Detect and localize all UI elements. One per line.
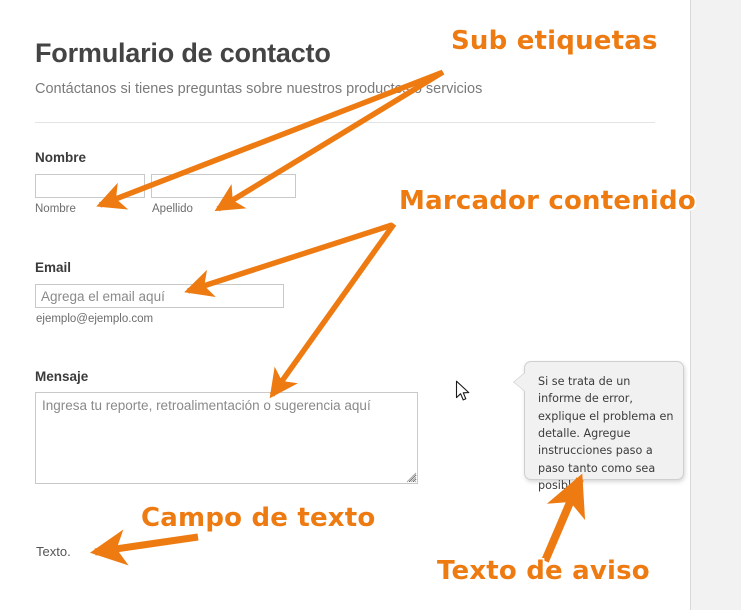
first-name-sub-label: Nombre — [35, 203, 76, 215]
name-field-label: Nombre — [35, 150, 86, 165]
annotation-campo-de-texto: Campo de texto — [141, 503, 375, 533]
notice-tooltip: Si se trata de un informe de error, expl… — [524, 361, 684, 480]
page-title: Formulario de contacto — [35, 38, 331, 69]
annotation-marcador-contenido: Marcador contenido — [399, 186, 696, 216]
email-input[interactable] — [35, 284, 284, 308]
email-sub-label: ejemplo@ejemplo.com — [36, 313, 153, 325]
screenshot-root: Formulario de contacto Contáctanos si ti… — [0, 0, 741, 610]
tooltip-text: Si se trata de un informe de error, expl… — [538, 373, 674, 495]
page-subtitle: Contáctanos si tienes preguntas sobre nu… — [35, 81, 482, 97]
header-divider — [35, 122, 655, 123]
annotation-sub-etiquetas: Sub etiquetas — [451, 26, 658, 56]
annotation-texto-de-aviso: Texto de aviso — [437, 556, 650, 586]
first-name-input[interactable] — [35, 174, 145, 198]
email-field-label: Email — [35, 260, 71, 275]
right-gutter-panel — [691, 0, 741, 610]
mouse-cursor-icon — [455, 380, 473, 404]
tooltip-pointer-icon — [514, 373, 525, 391]
last-name-input[interactable] — [151, 174, 296, 198]
message-field-label: Mensaje — [35, 369, 88, 384]
last-name-sub-label: Apellido — [152, 203, 193, 215]
message-textarea[interactable] — [35, 392, 418, 484]
footer-text: Texto. — [36, 544, 71, 559]
